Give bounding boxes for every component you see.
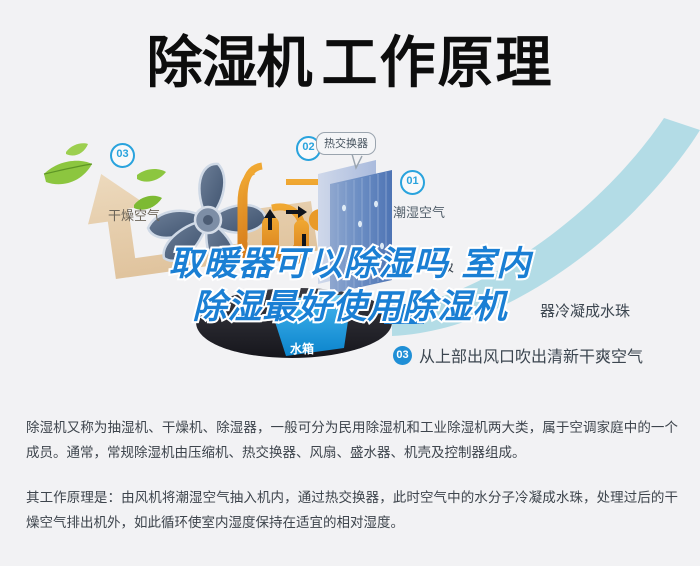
hx-fin-face	[330, 170, 392, 294]
title-band: 除湿机工作原理	[0, 0, 700, 112]
label-humid-air: 潮湿空气	[393, 202, 445, 221]
caption-step-condense: 器冷凝成水珠	[540, 300, 630, 321]
receiver-cylinder	[294, 220, 309, 264]
caption-step-outlet: 从上部出风口吹出清新干爽空气	[419, 343, 643, 367]
body-paragraph-1: 除湿机又称为抽湿机、干燥机、除湿器，一般可分为民用除湿机和工业除湿机两大类，属于…	[26, 416, 678, 466]
badge-03-dry-air: 03	[110, 143, 135, 168]
article-body: 除湿机又称为抽湿机、干燥机、除湿器，一般可分为民用除湿机和工业除湿机两大类，属于…	[26, 416, 678, 536]
badge-01-humid-air: 01	[400, 170, 425, 195]
page-title: 除湿机工作原理	[0, 32, 700, 94]
article-page: 除湿机工作原理	[0, 0, 700, 566]
caption-step-inlet: 口吸	[424, 255, 454, 276]
fan-center	[203, 215, 213, 225]
badge-03-outlet: 03	[393, 346, 412, 365]
label-water-tank: 水箱	[290, 340, 314, 357]
body-paragraph-2: 其工作原理是：由风机将潮湿空气抽入机内，通过热交换器，此时空气中的水分子冷凝成水…	[26, 486, 678, 536]
leaf-icon-2	[137, 169, 166, 182]
page-title-part1: 除湿机	[147, 31, 312, 94]
label-heat-exchanger: 热交换器	[316, 132, 376, 155]
heat-exchanger-unit	[318, 160, 392, 294]
label-dry-air: 干燥空气	[108, 205, 160, 224]
leaf-icon-small	[66, 143, 88, 155]
caption-step-outlet-row: 03 从上部出风口吹出清新干爽空气	[393, 343, 643, 367]
page-title-part2: 工作原理	[322, 31, 554, 94]
